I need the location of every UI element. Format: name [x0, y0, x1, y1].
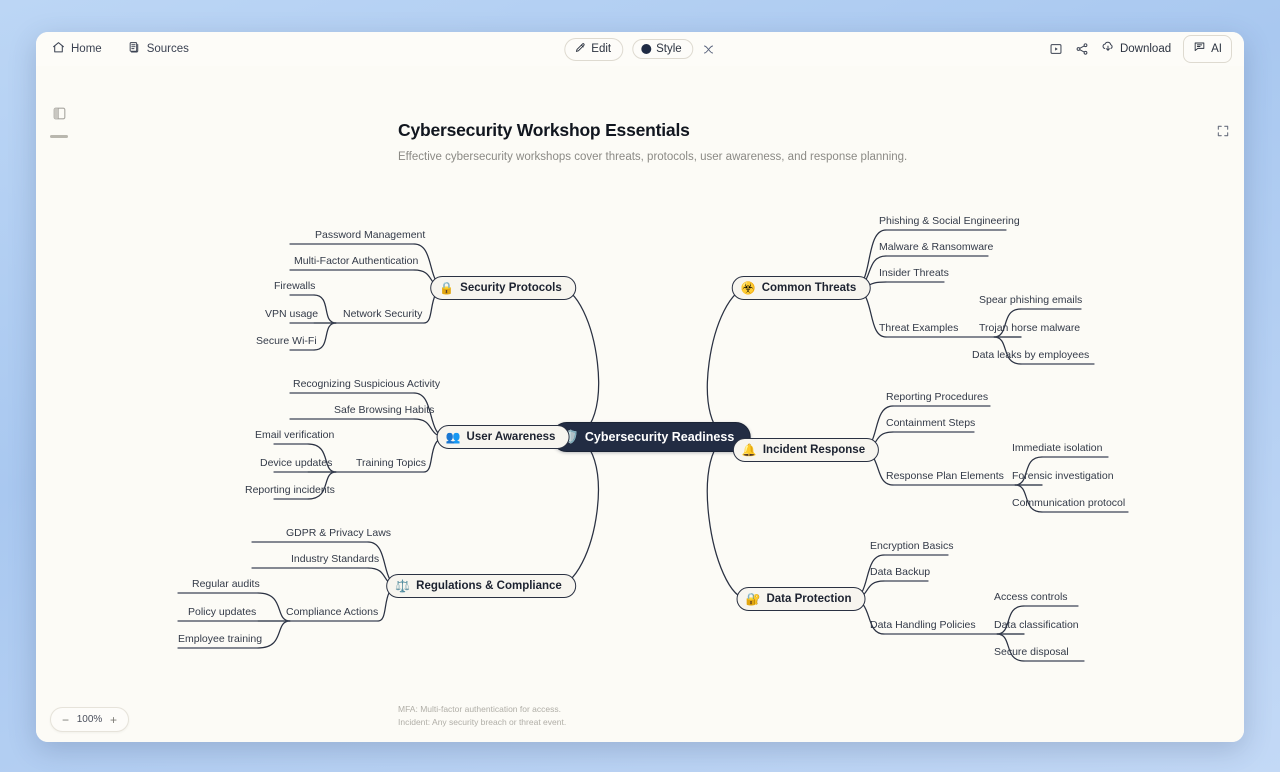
- leaf-label: Recognizing Suspicious Activity: [293, 378, 440, 390]
- gavel-icon: ⚖️: [395, 579, 410, 593]
- leaf-label: Regular audits: [192, 578, 260, 590]
- ai-label: AI: [1211, 43, 1222, 55]
- leaf-spear-phishing-emails[interactable]: Spear phishing emails: [979, 294, 1082, 309]
- footnotes: MFA: Multi-factor authentication for acc…: [398, 703, 566, 728]
- zoom-control: − 100% +: [50, 707, 129, 732]
- pencil-icon: [574, 42, 586, 57]
- branch-label-security-protocols: Security Protocols: [460, 282, 562, 294]
- leaf-label: GDPR & Privacy Laws: [286, 527, 391, 539]
- leaf-label: Trojan horse malware: [979, 322, 1080, 334]
- leaf-regular-audits[interactable]: Regular audits: [192, 578, 260, 593]
- leaf-data-leaks-by-employees[interactable]: Data leaks by employees: [972, 349, 1089, 364]
- app-window: Home Sources Edit: [36, 32, 1244, 742]
- leaf-label: Multi-Factor Authentication: [294, 255, 418, 267]
- present-icon[interactable]: [1049, 42, 1063, 56]
- mindmap-canvas[interactable]: Cybersecurity Workshop Essentials Effect…: [36, 66, 1244, 742]
- leaf-trojan-horse-malware[interactable]: Trojan horse malware: [979, 322, 1080, 337]
- leaf-label: Insider Threats: [879, 267, 949, 279]
- leaf-threat-examples[interactable]: Threat Examples: [879, 322, 958, 337]
- branch-label-regulations-compliance: Regulations & Compliance: [416, 580, 562, 592]
- leaf-label: Compliance Actions: [286, 606, 378, 618]
- leaf-label: Training Topics: [356, 457, 426, 469]
- leaf-label: Device updates: [260, 457, 332, 469]
- download-button[interactable]: Download: [1101, 40, 1171, 59]
- toolbar-left-group: Home Sources: [48, 38, 193, 60]
- leaf-data-handling-policies[interactable]: Data Handling Policies: [870, 619, 976, 634]
- leaf-malware-ransomware[interactable]: Malware & Ransomware: [879, 241, 993, 256]
- users-icon: 👥: [446, 430, 461, 444]
- leaf-label: Network Security: [343, 308, 422, 320]
- leaf-secure-wifi[interactable]: Secure Wi-Fi: [256, 335, 317, 350]
- download-label: Download: [1120, 43, 1171, 55]
- leaf-label: Forensic investigation: [1012, 470, 1114, 482]
- share-icon[interactable]: [1075, 42, 1089, 56]
- leaf-training-topics[interactable]: Training Topics: [356, 457, 426, 472]
- leaf-access-controls[interactable]: Access controls: [994, 591, 1068, 606]
- nav-home-label: Home: [71, 43, 102, 55]
- top-toolbar: Home Sources Edit: [36, 32, 1244, 66]
- toolbar-right-group: Download AI: [1049, 35, 1232, 63]
- chat-bubble-icon: [1193, 40, 1206, 58]
- branch-label-common-threats: Common Threats: [762, 282, 857, 294]
- leaf-label: Access controls: [994, 591, 1068, 603]
- leaf-reporting-procedures[interactable]: Reporting Procedures: [886, 391, 988, 406]
- sources-icon: [128, 41, 141, 57]
- edit-button[interactable]: Edit: [564, 38, 623, 61]
- leaf-device-updates[interactable]: Device updates: [260, 457, 332, 472]
- leaf-label: Email verification: [255, 429, 334, 441]
- leaf-label: Data classification: [994, 619, 1079, 631]
- branch-label-incident-response: Incident Response: [763, 444, 865, 456]
- nav-sources-label: Sources: [147, 43, 189, 55]
- leaf-label: Communication protocol: [1012, 497, 1125, 509]
- lock-icon: 🔒: [439, 281, 454, 295]
- footnote-line-2: Incident: Any security breach or threat …: [398, 716, 566, 728]
- mindmap-root-label: Cybersecurity Readiness: [585, 430, 734, 444]
- leaf-label: Spear phishing emails: [979, 294, 1082, 306]
- leaf-industry-standards[interactable]: Industry Standards: [291, 553, 379, 568]
- leaf-label: Encryption Basics: [870, 540, 953, 552]
- biohazard-icon: ☣️: [741, 281, 756, 295]
- leaf-label: Policy updates: [188, 606, 256, 618]
- branch-node-data-protection[interactable]: 🔐 Data Protection: [737, 587, 866, 611]
- leaf-label: Data leaks by employees: [972, 349, 1089, 361]
- cloud-download-icon: [1101, 40, 1115, 59]
- edit-button-label: Edit: [591, 43, 611, 55]
- leaf-employee-training[interactable]: Employee training: [178, 633, 262, 648]
- leaf-label: Containment Steps: [886, 417, 975, 429]
- leaf-reporting-incidents[interactable]: Reporting incidents: [245, 484, 335, 499]
- branch-node-incident-response[interactable]: 🔔 Incident Response: [733, 438, 879, 462]
- leaf-forensic-investigation[interactable]: Forensic investigation: [1012, 470, 1114, 485]
- leaf-label: Reporting incidents: [245, 484, 335, 496]
- style-button-label: Style: [656, 43, 682, 55]
- leaf-response-plan-elements[interactable]: Response Plan Elements: [886, 470, 1004, 485]
- leaf-communication-protocol[interactable]: Communication protocol: [1012, 497, 1125, 512]
- closed-lock-icon: 🔐: [746, 592, 761, 606]
- leaf-label: Malware & Ransomware: [879, 241, 993, 253]
- leaf-label: VPN usage: [265, 308, 318, 320]
- leaf-label: Data Handling Policies: [870, 619, 976, 631]
- leaf-label: Secure Wi-Fi: [256, 335, 317, 347]
- leaf-label: Threat Examples: [879, 322, 958, 334]
- footnote-line-1: MFA: Multi-factor authentication for acc…: [398, 703, 566, 715]
- branch-node-common-threats[interactable]: ☣️ Common Threats: [732, 276, 871, 300]
- leaf-label: Safe Browsing Habits: [334, 404, 434, 416]
- leaf-network-security[interactable]: Network Security: [343, 308, 422, 323]
- leaf-data-backup[interactable]: Data Backup: [870, 566, 930, 581]
- bell-icon: 🔔: [742, 443, 757, 457]
- leaf-safe-browsing-habits[interactable]: Safe Browsing Habits: [334, 404, 434, 419]
- leaf-data-classification[interactable]: Data classification: [994, 619, 1079, 634]
- leaf-label: Response Plan Elements: [886, 470, 1004, 482]
- mindmap-graph: 🛡️ Cybersecurity Readiness 🔒 Security Pr…: [36, 66, 1244, 742]
- leaf-label: Firewalls: [274, 280, 315, 292]
- leaf-label: Immediate isolation: [1012, 442, 1102, 454]
- leaf-gdpr-privacy-laws[interactable]: GDPR & Privacy Laws: [286, 527, 391, 542]
- branch-node-security-protocols[interactable]: 🔒 Security Protocols: [430, 276, 576, 300]
- leaf-compliance-actions[interactable]: Compliance Actions: [286, 606, 378, 621]
- leaf-label: Secure disposal: [994, 646, 1069, 658]
- branch-label-user-awareness: User Awareness: [467, 431, 556, 443]
- ai-button[interactable]: AI: [1183, 35, 1232, 63]
- mindmap-root-node[interactable]: 🛡️ Cybersecurity Readiness: [552, 422, 751, 452]
- home-icon: [52, 41, 65, 57]
- leaf-policy-updates[interactable]: Policy updates: [188, 606, 256, 621]
- branch-label-data-protection: Data Protection: [766, 593, 851, 605]
- zoom-level-label: 100%: [76, 714, 103, 725]
- nav-sources[interactable]: Sources: [124, 38, 193, 60]
- leaf-immediate-isolation[interactable]: Immediate isolation: [1012, 442, 1102, 457]
- leaf-email-verification[interactable]: Email verification: [255, 429, 334, 444]
- leaf-insider-threats[interactable]: Insider Threats: [879, 267, 949, 282]
- leaf-label: Password Management: [315, 229, 425, 241]
- shuffle-icon[interactable]: [703, 43, 716, 56]
- leaf-firewalls[interactable]: Firewalls: [274, 280, 315, 295]
- leaf-recognizing-suspicious-activity[interactable]: Recognizing Suspicious Activity: [293, 378, 440, 393]
- leaf-label: Data Backup: [870, 566, 930, 578]
- toolbar-center-group: Edit Style: [564, 38, 715, 61]
- nav-home[interactable]: Home: [48, 38, 106, 60]
- leaf-label: Phishing & Social Engineering: [879, 215, 1020, 227]
- leaf-label: Reporting Procedures: [886, 391, 988, 403]
- style-button[interactable]: Style: [632, 39, 694, 59]
- leaf-multi-factor-authentication[interactable]: Multi-Factor Authentication: [294, 255, 418, 270]
- leaf-password-management[interactable]: Password Management: [315, 229, 425, 244]
- style-swatch-icon: [641, 44, 651, 54]
- leaf-secure-disposal[interactable]: Secure disposal: [994, 646, 1069, 661]
- leaf-containment-steps[interactable]: Containment Steps: [886, 417, 975, 432]
- leaf-label: Employee training: [178, 633, 262, 645]
- leaf-vpn-usage[interactable]: VPN usage: [265, 308, 318, 323]
- branch-node-user-awareness[interactable]: 👥 User Awareness: [437, 425, 570, 449]
- branch-node-regulations-compliance[interactable]: ⚖️ Regulations & Compliance: [386, 574, 576, 598]
- zoom-out-button[interactable]: −: [58, 712, 73, 727]
- zoom-in-button[interactable]: +: [106, 712, 121, 727]
- leaf-encryption-basics[interactable]: Encryption Basics: [870, 540, 953, 555]
- leaf-label: Industry Standards: [291, 553, 379, 565]
- leaf-phishing-social-engineering[interactable]: Phishing & Social Engineering: [879, 215, 1020, 230]
